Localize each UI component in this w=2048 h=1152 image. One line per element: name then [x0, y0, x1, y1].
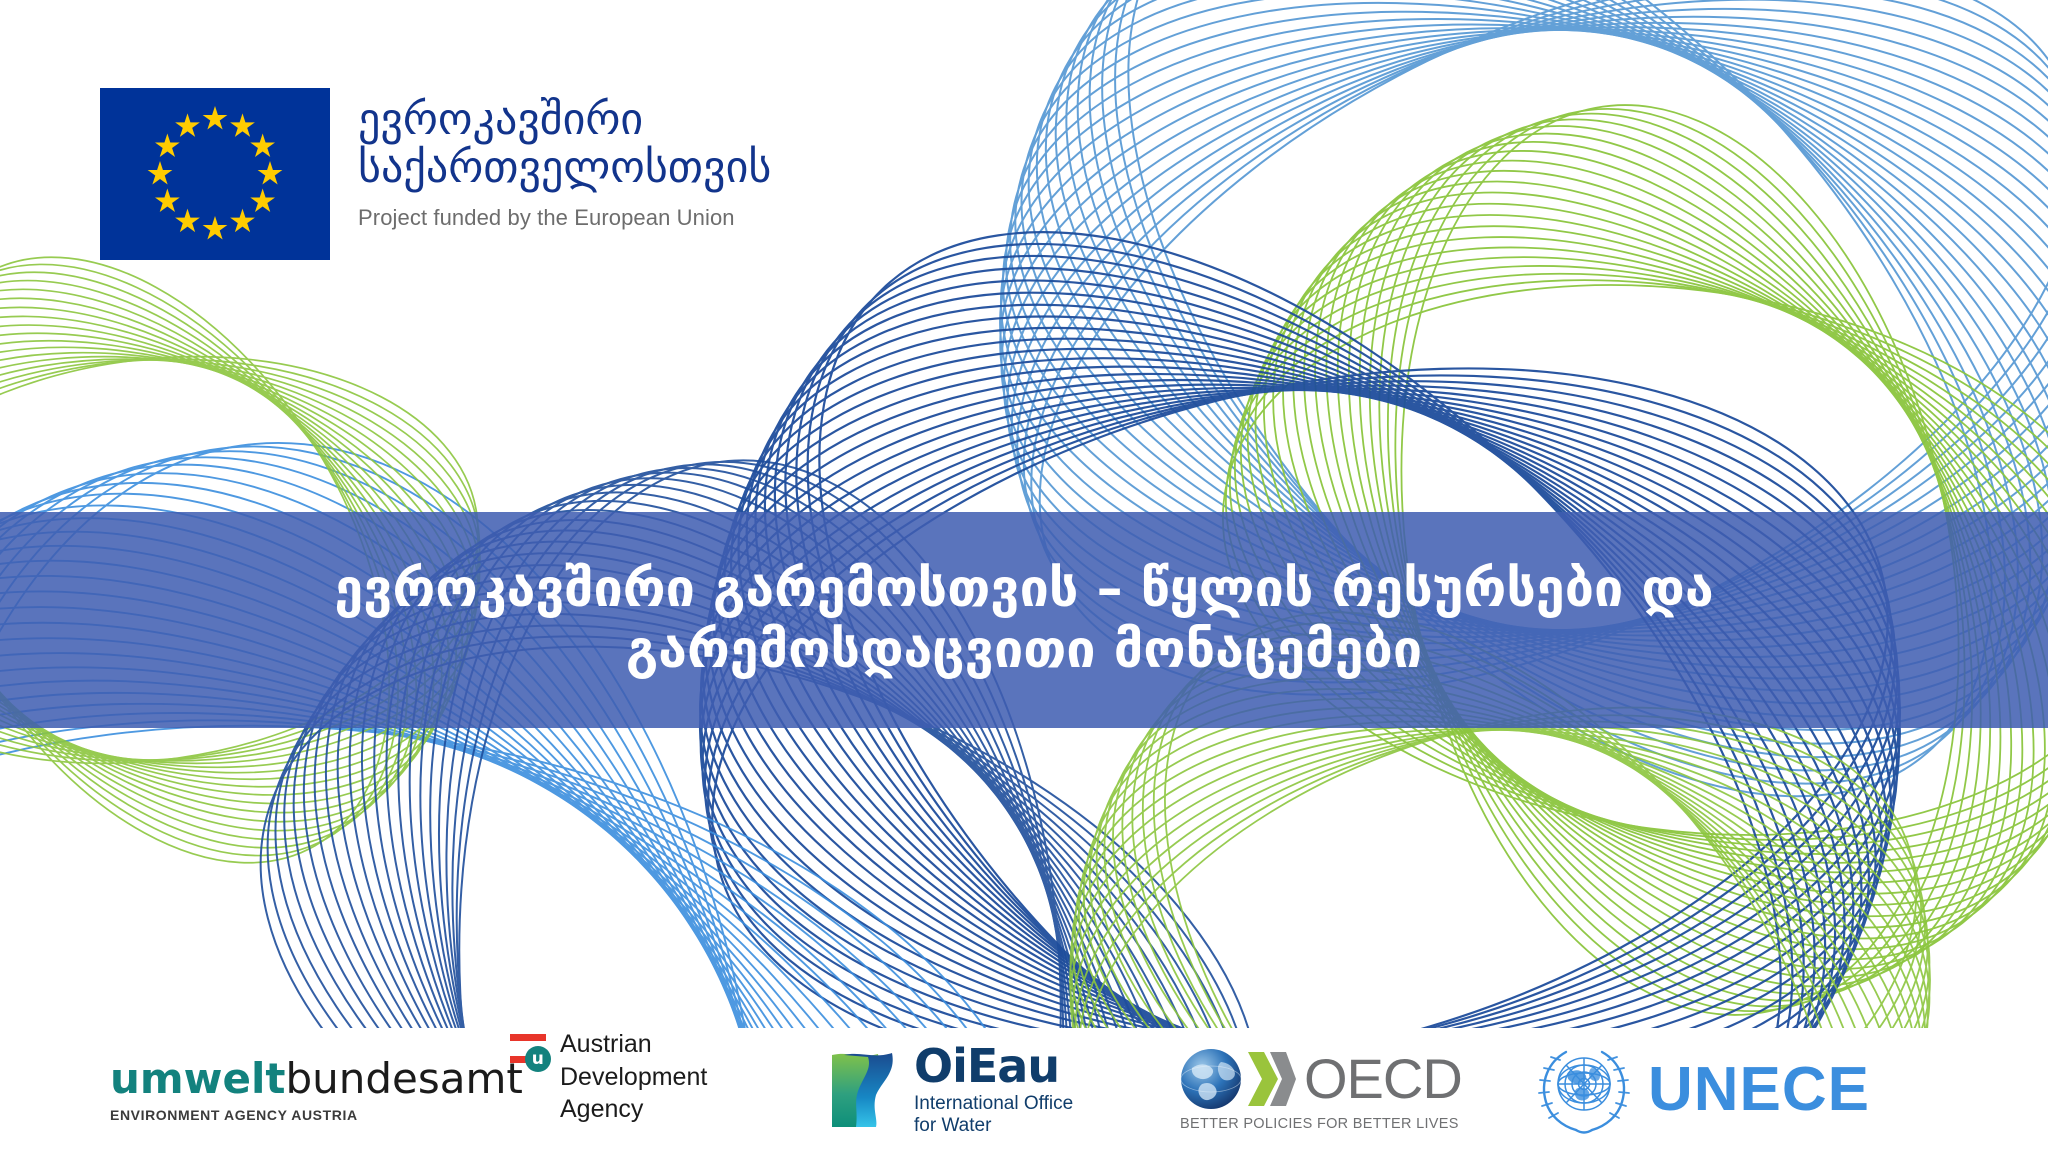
eu-funding-logo: ევროკავშირი საქართველოსთვის Project fund… — [100, 88, 771, 260]
title-slide: ევროკავშირი საქართველოსთვის Project fund… — [0, 0, 2048, 1152]
oecd-chevrons-icon — [1244, 1048, 1298, 1110]
partner-logo-bar: umweltbundesamtu ENVIRONMENT AGENCY AUST… — [0, 1028, 2048, 1152]
oecd-tagline: BETTER POLICIES FOR BETTER LIVES — [1180, 1116, 1462, 1132]
logo-unece: UNECE — [1470, 1028, 1870, 1152]
umweltbundesamt-word-part2: bundesamt — [285, 1054, 522, 1103]
eu-logo-line-1: ევროკავშირი — [358, 96, 771, 144]
page-title-line-2: გარემოსდაცვითი მონაცემები — [334, 620, 1713, 681]
oieau-subtitle-line-1: International Office — [914, 1093, 1073, 1115]
logo-umweltbundesamt: umweltbundesamtu ENVIRONMENT AGENCY AUST… — [60, 1028, 480, 1152]
oecd-globe-icon — [1180, 1048, 1242, 1110]
unece-wordmark: UNECE — [1648, 1059, 1870, 1121]
eu-stars-circle-icon — [100, 88, 330, 260]
ada-line-3: Agency — [560, 1093, 707, 1126]
oecd-wordmark: OECD — [1304, 1051, 1462, 1107]
oieau-wordmark: OiEau — [914, 1043, 1073, 1089]
umweltbundesamt-word-part1: umwelt — [110, 1054, 285, 1103]
eu-flag-icon — [100, 88, 330, 260]
oieau-water-mark-icon — [830, 1049, 902, 1131]
title-banner: ევროკავშირი გარემოსთვის – წყლის რესურსებ… — [0, 512, 2048, 728]
page-title-line-1: ევროკავშირი გარემოსთვის – წყლის რესურსებ… — [334, 559, 1713, 620]
umweltbundesamt-u-badge-icon: u — [525, 1046, 551, 1072]
eu-logo-text: ევროკავშირი საქართველოსთვის Project fund… — [358, 88, 771, 231]
eu-logo-subtitle: Project funded by the European Union — [358, 205, 771, 231]
ada-wordmark: Austrian Development Agency — [560, 1028, 707, 1126]
umweltbundesamt-wordmark: umweltbundesamtu — [110, 1058, 551, 1100]
ada-line-1: Austrian — [560, 1028, 707, 1061]
page-title: ევროკავშირი გარემოსთვის – წყლის რესურსებ… — [294, 559, 1753, 682]
logo-oieau: OiEau International Office for Water — [810, 1028, 1140, 1152]
ada-line-2: Development — [560, 1061, 707, 1094]
logo-oecd: OECD BETTER POLICIES FOR BETTER LIVES — [1140, 1028, 1470, 1152]
oieau-subtitle-line-2: for Water — [914, 1115, 1073, 1137]
eu-logo-line-2: საქართველოსთვის — [358, 144, 771, 192]
united-nations-emblem-icon — [1530, 1036, 1638, 1144]
